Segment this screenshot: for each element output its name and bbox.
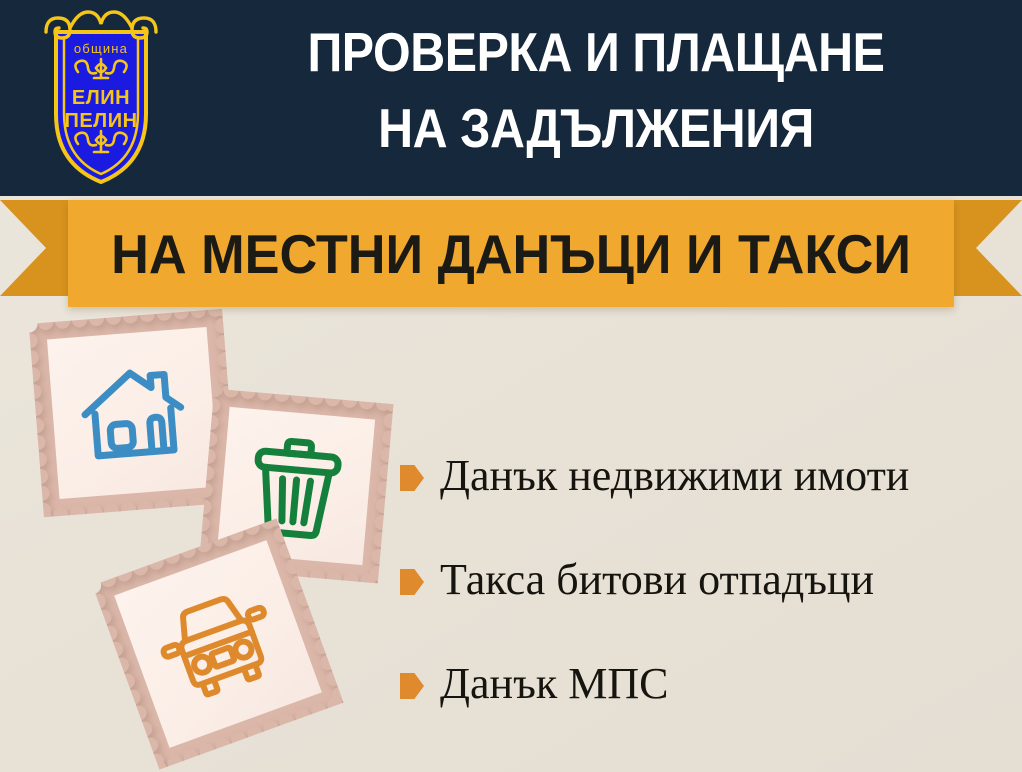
house-icon [75, 359, 191, 467]
list-item-label: Данък недвижими имоти [440, 453, 909, 499]
arrow-bullet-icon [400, 465, 424, 491]
page-title: ПРОВЕРКА И ПЛАЩАНЕ НА ЗАДЪЛЖЕНИЯ [235, 14, 957, 166]
poster-root: ПРОВЕРКА И ПЛАЩАНЕ НА ЗАДЪЛЖЕНИЯ [0, 0, 1022, 772]
ribbon-banner: НА МЕСТНИ ДАНЪЦИ И ТАКСИ [0, 186, 1022, 306]
municipality-crest-logo: община ЕЛИН ПЕЛИН [26, 6, 176, 186]
arrow-bullet-icon [400, 569, 424, 595]
crest-small-label: община [74, 41, 128, 56]
stamp-paper [114, 540, 322, 748]
stamp-paper [47, 327, 219, 499]
crest-main-label-2: ПЕЛИН [64, 110, 137, 132]
ribbon-label: НА МЕСТНИ ДАНЪЦИ И ТАКСИ [90, 200, 932, 307]
list-item[interactable]: Данък недвижими имоти [400, 424, 1012, 528]
arrow-bullet-icon [400, 673, 424, 699]
list-item-label: Данък МПС [440, 661, 668, 707]
list-item-label: Такса битови отпадъци [440, 557, 874, 603]
crest-main-label-1: ЕЛИН [72, 87, 130, 109]
tax-type-list: Данък недвижими имоти Такса битови отпад… [400, 424, 1012, 736]
list-item[interactable]: Данък МПС [400, 632, 1012, 736]
crest-icon: община ЕЛИН ПЕЛИН [26, 6, 176, 186]
list-item[interactable]: Такса битови отпадъци [400, 528, 1012, 632]
car-icon [147, 579, 289, 709]
